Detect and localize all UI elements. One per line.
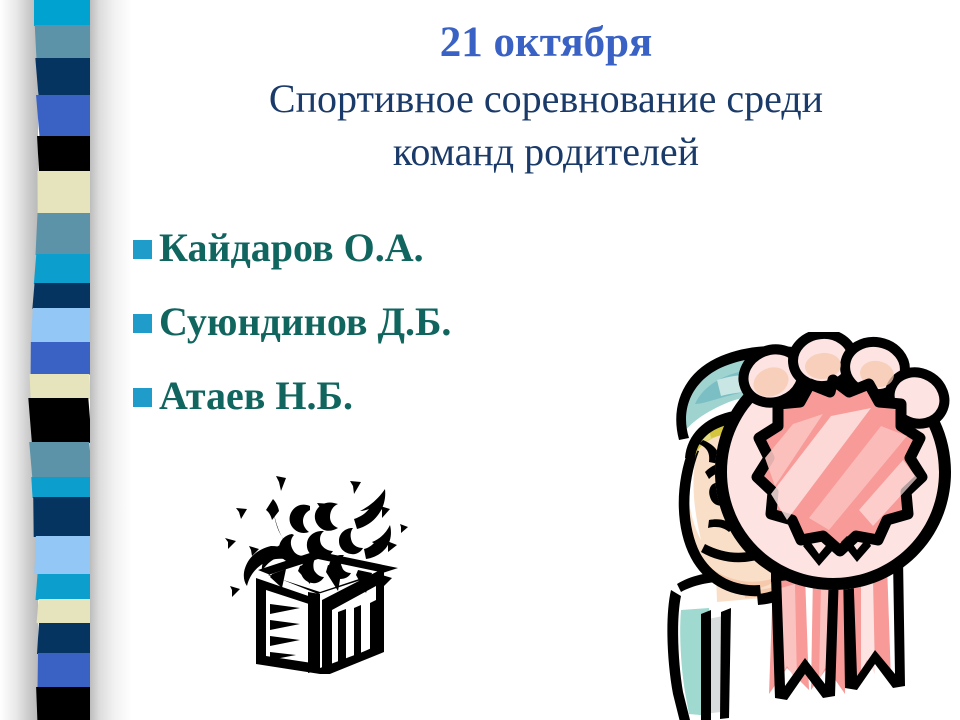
list-item-label: Суюндинов Д.Б.: [159, 299, 451, 345]
border-stripe: [30, 374, 91, 399]
list-item: Суюндинов Д.Б.: [133, 296, 653, 348]
border-stripe: [28, 398, 92, 443]
square-bullet-icon: [133, 388, 152, 407]
square-bullet-icon: [133, 240, 152, 259]
border-stripe: [36, 687, 98, 720]
gift-box-with-bow-icon: [222, 462, 412, 674]
border-stripe: [34, 536, 96, 574]
list-item: Атаев Н.Б.: [133, 370, 653, 422]
list-item-label: Кайдаров О.А.: [159, 225, 424, 271]
border-stripe: [36, 213, 98, 255]
border-stripe: [32, 283, 94, 309]
presentation-slide: 21 октября Спортивное соревнование среди…: [0, 0, 960, 720]
border-stripe: [36, 574, 98, 600]
striped-ribbon-border: [0, 0, 132, 720]
border-stripe: [31, 308, 93, 343]
border-stripe: [34, 254, 96, 284]
border-stripe: [31, 477, 92, 498]
title-block: 21 октября Спортивное соревнование среди…: [132, 18, 960, 178]
participants-list: Кайдаров О.А.Суюндинов Д.Б.Атаев Н.Б.: [133, 222, 653, 444]
slide-date: 21 октября: [132, 18, 960, 68]
border-stripe: [37, 171, 97, 214]
border-stripe: [31, 342, 91, 375]
border-stripe: [34, 0, 94, 26]
slide-subtitle: Спортивное соревнование среди команд род…: [132, 72, 960, 178]
border-stripe: [35, 25, 97, 58]
border-stripe: [33, 497, 93, 537]
boy-with-award-ribbon-icon: [585, 332, 960, 720]
square-bullet-icon: [133, 314, 152, 333]
border-shadow-right: [90, 0, 132, 720]
list-item-label: Атаев Н.Б.: [159, 373, 353, 419]
list-item: Кайдаров О.А.: [133, 222, 653, 274]
border-stripe: [38, 653, 99, 688]
border-stripe: [29, 442, 92, 477]
stripe-column: [34, 0, 94, 720]
